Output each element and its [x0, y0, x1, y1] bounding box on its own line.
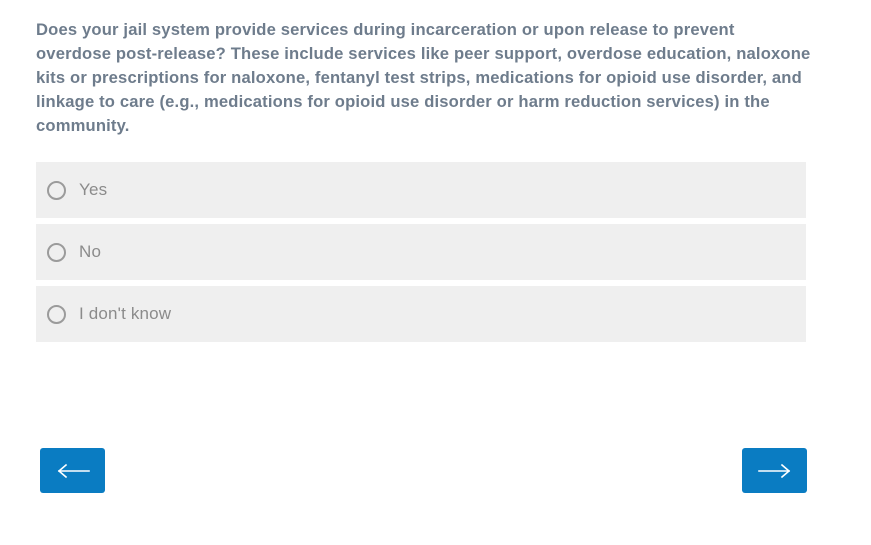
option-row-i-dont-know[interactable]: I don't know [36, 286, 806, 342]
navigation-bar [0, 448, 871, 494]
question-block: Does your jail system provide services d… [36, 18, 814, 138]
radio-unchecked-icon[interactable] [47, 181, 66, 200]
option-label-i-dont-know: I don't know [79, 304, 171, 324]
survey-page: Does your jail system provide services d… [0, 0, 871, 545]
option-row-no[interactable]: No [36, 224, 806, 280]
question-text: Does your jail system provide services d… [36, 18, 814, 138]
previous-button[interactable] [40, 448, 105, 493]
radio-unchecked-icon[interactable] [47, 243, 66, 262]
option-label-yes: Yes [79, 180, 107, 200]
next-button[interactable] [742, 448, 807, 493]
option-row-yes[interactable]: Yes [36, 162, 806, 218]
option-label-no: No [79, 242, 101, 262]
arrow-right-icon [758, 463, 792, 479]
options-list: Yes No I don't know [36, 162, 806, 342]
radio-unchecked-icon[interactable] [47, 305, 66, 324]
arrow-left-icon [56, 463, 90, 479]
